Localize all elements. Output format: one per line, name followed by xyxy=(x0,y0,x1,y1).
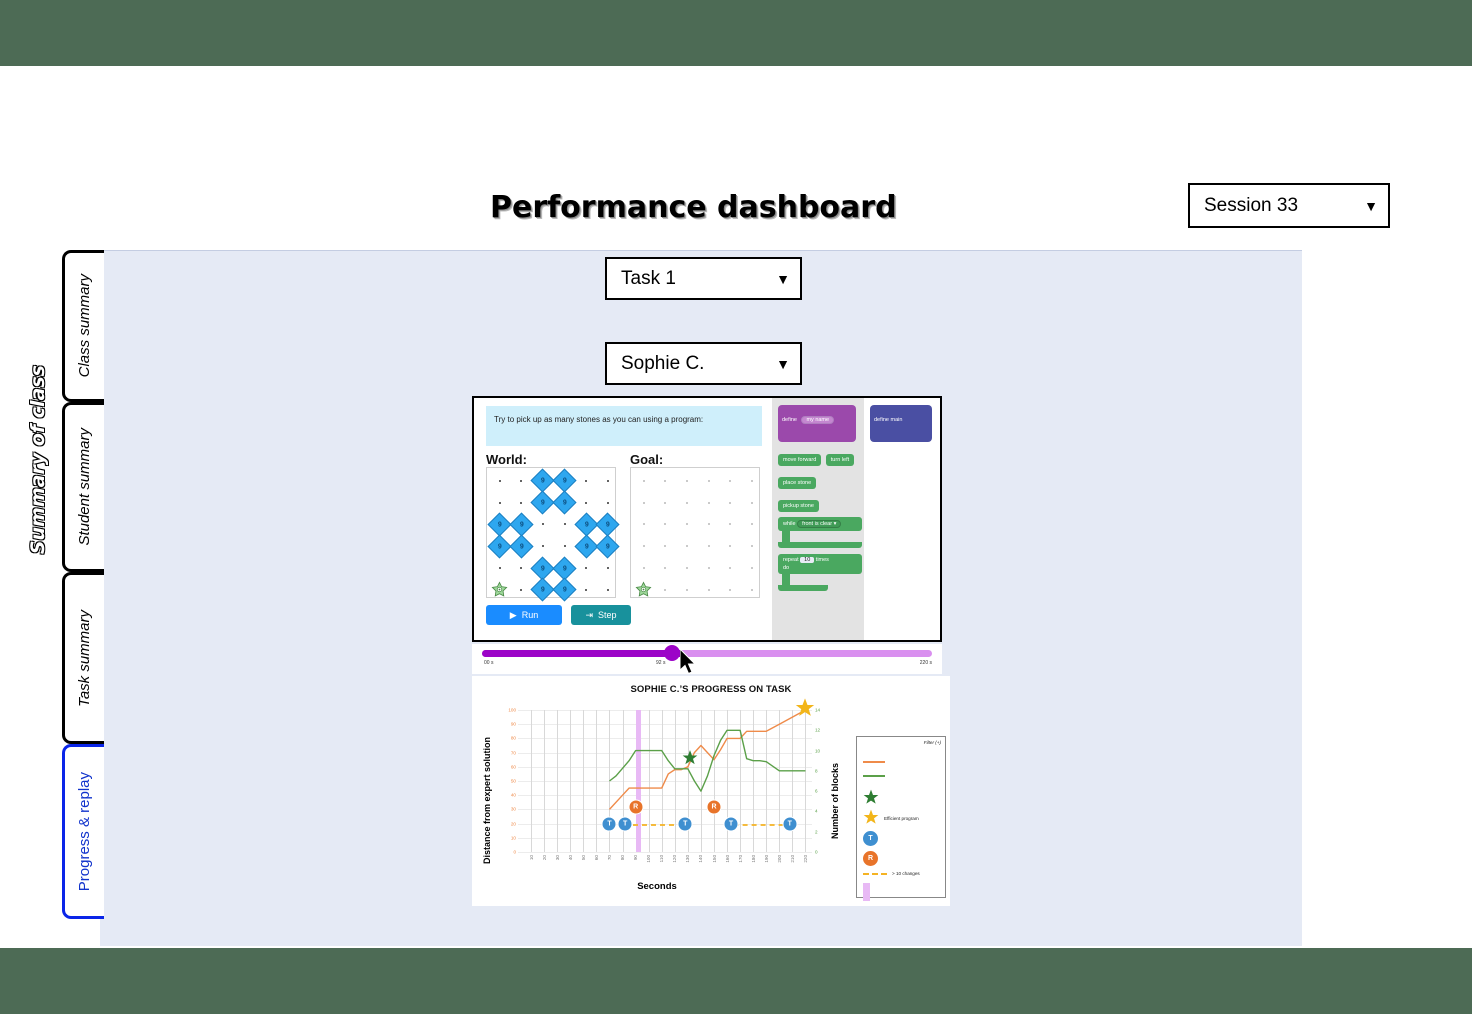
timeline-progress-fill xyxy=(482,650,681,657)
grid-cell: 9 xyxy=(511,535,533,557)
grid-dot xyxy=(708,502,710,504)
grid-cell xyxy=(719,514,741,536)
robot-icon xyxy=(491,581,508,598)
grid-dot xyxy=(520,589,522,591)
marker-run[interactable]: R xyxy=(628,799,643,814)
block-define-my-name[interactable]: define my name xyxy=(778,405,856,442)
sidebar-item-student-summary[interactable]: Student summary xyxy=(62,402,104,572)
timeline-current-label: 92 s xyxy=(656,660,665,666)
sidebar-group-label-text: Summary of class xyxy=(27,365,49,554)
block-label: pickup stone xyxy=(783,503,814,509)
chevron-down-icon: ▼ xyxy=(776,271,790,287)
timeline-track[interactable] xyxy=(482,650,932,657)
sidebar-item-label: Task summary xyxy=(76,610,93,707)
student-dropdown-value: Sophie C. xyxy=(621,353,704,375)
grid-dot xyxy=(686,567,688,569)
grid-dot xyxy=(708,480,710,482)
grid-cell xyxy=(597,579,619,601)
grid-cell xyxy=(633,492,655,514)
grid-cell xyxy=(575,557,597,579)
block-label: move forward xyxy=(783,457,816,463)
step-button[interactable]: ⇥ Step xyxy=(571,605,631,625)
grid-cell xyxy=(719,470,741,492)
stone-icon: 9 xyxy=(553,556,577,580)
grid-cell xyxy=(698,579,720,601)
grid-cell xyxy=(698,557,720,579)
grid-cell xyxy=(676,535,698,557)
grid-dot xyxy=(686,480,688,482)
grid-cell xyxy=(741,535,763,557)
grid-cell xyxy=(511,470,533,492)
grid-cell: 9 xyxy=(575,535,597,557)
circle-t-icon: T xyxy=(863,831,878,846)
block-label: define xyxy=(782,417,797,423)
marker-test-run[interactable]: T xyxy=(602,816,617,831)
block-place-stone[interactable]: place stone xyxy=(778,477,816,489)
block-workspace[interactable]: define main xyxy=(864,398,940,640)
star-gold-icon xyxy=(795,698,815,723)
timeline-start-label: 00 s xyxy=(484,660,493,666)
goal-label: Goal: xyxy=(630,452,760,467)
grid-cell xyxy=(698,470,720,492)
grid-cell xyxy=(633,535,655,557)
line-orange-icon xyxy=(863,761,885,763)
block-label: while xyxy=(783,521,796,527)
timeline-knob[interactable] xyxy=(664,645,680,661)
grid-cell xyxy=(489,557,511,579)
legend-item-star-green[interactable] xyxy=(863,789,884,807)
grid-cell xyxy=(633,470,655,492)
grid-cell xyxy=(741,492,763,514)
chart-x-axis-label: Seconds xyxy=(512,881,802,892)
chart-legend[interactable]: Filter (+) Efficient program T R xyxy=(856,736,946,898)
grid-cell xyxy=(698,535,720,557)
grid-cell xyxy=(676,579,698,601)
grid-dot xyxy=(751,480,753,482)
grid-cell xyxy=(489,579,511,601)
grid-cell xyxy=(655,514,677,536)
grid-cell xyxy=(741,557,763,579)
replay-timeline[interactable]: 00 s 92 s 220 s xyxy=(472,644,942,674)
grid-dot xyxy=(664,502,666,504)
legend-item-star-gold[interactable]: Efficient program xyxy=(863,809,919,827)
grid-cell: 9 xyxy=(511,514,533,536)
grid-cell: 9 xyxy=(532,557,554,579)
grid-dot xyxy=(607,589,609,591)
session-dropdown[interactable]: Session 33 ▼ xyxy=(1188,183,1390,228)
grid-cell: 9 xyxy=(532,470,554,492)
grid-cell xyxy=(676,514,698,536)
grid-dot xyxy=(643,545,645,547)
grid-dot xyxy=(708,523,710,525)
stone-icon: 9 xyxy=(553,491,577,515)
block-move-forward[interactable]: move forward xyxy=(778,454,821,466)
block-label: turn left xyxy=(831,457,849,463)
grid-cell xyxy=(489,492,511,514)
grids-row: World: 9999999999999999 Goal: xyxy=(486,446,762,598)
grid-dot xyxy=(607,480,609,482)
stone-icon: 9 xyxy=(488,512,512,536)
grid-dot xyxy=(499,480,501,482)
grid-cell xyxy=(511,557,533,579)
grid-dot xyxy=(664,480,666,482)
block-field-name[interactable]: my name xyxy=(801,416,834,424)
block-palette[interactable]: define my name move forward turn left pl… xyxy=(772,398,864,640)
grid-cell: 9 xyxy=(532,579,554,601)
grid-cell xyxy=(511,579,533,601)
legend-item-circle-r[interactable]: R xyxy=(863,851,883,866)
stone-icon: 9 xyxy=(488,534,512,558)
chart-plot-area: 0102030405060708090100024681012141020304… xyxy=(496,706,826,876)
grid-cell: 9 xyxy=(554,470,576,492)
marker-test-run[interactable]: T xyxy=(782,816,797,831)
play-icon: ▶ xyxy=(510,610,517,621)
dashed-yellow-icon xyxy=(863,873,887,875)
chart-series-line-0 xyxy=(609,710,805,809)
legend-item-dashed[interactable]: > 10 changes xyxy=(863,871,920,876)
grid-cell: 9 xyxy=(532,492,554,514)
marker-test-run[interactable]: T xyxy=(618,816,633,831)
block-field-count[interactable]: 10 xyxy=(800,557,814,563)
grid-dot xyxy=(729,589,731,591)
grid-cell xyxy=(633,579,655,601)
chart-y-axis-label-right: Number of blocks xyxy=(828,731,842,871)
grid-dot xyxy=(643,523,645,525)
grid-cell: 9 xyxy=(554,557,576,579)
grid-cell: 9 xyxy=(575,514,597,536)
grid-cell xyxy=(676,470,698,492)
grid-cell xyxy=(554,514,576,536)
grid-dot xyxy=(520,480,522,482)
grid-dot xyxy=(751,589,753,591)
page-title: Performance dashboard xyxy=(490,190,897,225)
grid-cell xyxy=(511,492,533,514)
block-define-main[interactable]: define main xyxy=(870,405,932,442)
grid-dot xyxy=(643,480,645,482)
block-pickup-stone[interactable]: pickup stone xyxy=(778,500,819,512)
sidebar-group-label: Summary of class xyxy=(18,250,58,670)
grid-cell xyxy=(676,492,698,514)
grid-dot xyxy=(564,523,566,525)
chevron-down-icon: ▼ xyxy=(1364,198,1378,214)
grid-cell xyxy=(698,492,720,514)
grid-dot xyxy=(520,502,522,504)
timeline-end-label: 220 s xyxy=(920,660,932,666)
grid-dot xyxy=(751,567,753,569)
stone-icon: 9 xyxy=(553,469,577,493)
sidebar-item-class-summary[interactable]: Class summary xyxy=(62,250,104,402)
grid-dot xyxy=(585,567,587,569)
robot-icon xyxy=(635,581,652,598)
grid-cell: 9 xyxy=(597,514,619,536)
stone-icon: 9 xyxy=(596,534,620,558)
grid-cell xyxy=(575,579,597,601)
star-gold-icon xyxy=(863,809,879,827)
grid-cell xyxy=(719,492,741,514)
sidebar-item-task-summary[interactable]: Task summary xyxy=(62,572,104,744)
block-label-do: do xyxy=(783,565,789,571)
grid-cell xyxy=(655,557,677,579)
grid-dot xyxy=(664,545,666,547)
grid-dot xyxy=(585,589,587,591)
grid-dot xyxy=(708,545,710,547)
grid-dot xyxy=(564,545,566,547)
session-dropdown-value: Session 33 xyxy=(1204,195,1298,217)
world-grid[interactable]: 9999999999999999 xyxy=(486,467,616,598)
grid-cell xyxy=(719,579,741,601)
sidebar-item-progress-replay[interactable]: Progress & replay xyxy=(62,744,104,919)
run-button[interactable]: ▶ Run xyxy=(486,605,562,625)
grid-cell: 9 xyxy=(554,492,576,514)
chart-title: SOPHIE C.’S PROGRESS ON TASK xyxy=(472,684,950,695)
legend-item-blocks[interactable] xyxy=(863,775,890,777)
chart-series-line-1 xyxy=(609,730,805,791)
student-dropdown[interactable]: Sophie C. ▼ xyxy=(605,342,802,385)
grid-cell xyxy=(741,514,763,536)
block-label: repeat xyxy=(783,557,799,563)
world-section: World: 9999999999999999 xyxy=(486,446,616,598)
grid-dot xyxy=(499,502,501,504)
legend-item-label: > 10 changes xyxy=(892,871,920,876)
grid-cell xyxy=(597,470,619,492)
block-while-front-is-clear[interactable]: while front is clear ▾ xyxy=(778,517,858,548)
circle-r-icon: R xyxy=(863,851,878,866)
grid-dot xyxy=(729,523,731,525)
grid-cell xyxy=(633,557,655,579)
sidebar-item-label: Class summary xyxy=(76,274,93,377)
world-label: World: xyxy=(486,452,616,467)
grid-cell xyxy=(575,470,597,492)
grid-cell xyxy=(655,470,677,492)
grid-dot xyxy=(686,545,688,547)
grid-dot xyxy=(607,567,609,569)
grid-cell xyxy=(655,535,677,557)
grid-cell xyxy=(655,492,677,514)
block-label: place stone xyxy=(783,480,811,486)
marker-test-run[interactable]: T xyxy=(678,816,693,831)
block-field-condition[interactable]: front is clear ▾ xyxy=(797,520,841,528)
grid-dot xyxy=(664,589,666,591)
grid-dot xyxy=(729,545,731,547)
grid-cell: 9 xyxy=(554,579,576,601)
grid-dot xyxy=(686,523,688,525)
simulation-buttons: ▶ Run ⇥ Step xyxy=(486,605,762,625)
band-violet-icon xyxy=(863,883,870,901)
grid-cell: 9 xyxy=(597,535,619,557)
grid-cell xyxy=(532,514,554,536)
grid-cell xyxy=(554,535,576,557)
legend-item-distance[interactable] xyxy=(863,761,890,763)
grid-dot xyxy=(542,523,544,525)
block-repeat-times[interactable]: repeat 10 times do xyxy=(778,554,858,591)
grid-dot xyxy=(751,545,753,547)
grid-cell xyxy=(575,492,597,514)
stone-icon: 9 xyxy=(509,534,533,558)
blockly-area: define my name move forward turn left pl… xyxy=(772,398,940,640)
grid-dot xyxy=(729,567,731,569)
grid-dot xyxy=(729,480,731,482)
stone-icon: 9 xyxy=(509,512,533,536)
grid-dot xyxy=(585,480,587,482)
grid-dot xyxy=(542,545,544,547)
grid-cell xyxy=(719,535,741,557)
grid-cell xyxy=(698,514,720,536)
grid-dot xyxy=(643,502,645,504)
grid-dot xyxy=(520,567,522,569)
block-label: define main xyxy=(874,417,902,423)
grid-dot xyxy=(686,589,688,591)
progress-chart-card: SOPHIE C.’S PROGRESS ON TASK Distance fr… xyxy=(472,676,950,906)
grid-dot xyxy=(643,567,645,569)
grid-dot xyxy=(607,502,609,504)
stone-icon: 9 xyxy=(531,469,555,493)
grid-dot xyxy=(686,502,688,504)
grid-dot xyxy=(585,502,587,504)
step-button-label: Step xyxy=(598,610,617,620)
legend-item-circle-t[interactable]: T xyxy=(863,831,883,846)
block-turn-left[interactable]: turn left xyxy=(826,454,854,466)
grid-cell xyxy=(597,557,619,579)
marker-test-run[interactable]: T xyxy=(723,816,738,831)
grid-cell xyxy=(489,470,511,492)
simulation-left-pane: Try to pick up as many stones as you can… xyxy=(474,398,772,640)
chevron-down-icon: ▼ xyxy=(776,356,790,372)
grid-cell: 9 xyxy=(489,514,511,536)
chart-y-axis-label-left: Distance from expert solution xyxy=(480,726,494,876)
line-green-icon xyxy=(863,775,885,777)
step-icon: ⇥ xyxy=(585,610,593,621)
stone-icon: 9 xyxy=(531,578,555,602)
grid-dot xyxy=(751,523,753,525)
stone-icon: 9 xyxy=(531,491,555,515)
grid-cell xyxy=(532,535,554,557)
grid-dot xyxy=(708,589,710,591)
simulation-panel: Try to pick up as many stones as you can… xyxy=(472,396,942,642)
grid-dot xyxy=(664,567,666,569)
legend-item-band[interactable] xyxy=(863,883,875,901)
sidebar-item-label: Progress & replay xyxy=(76,772,93,891)
grid-dot xyxy=(729,502,731,504)
task-dropdown[interactable]: Task 1 ▼ xyxy=(605,257,802,300)
goal-grid xyxy=(630,467,760,598)
grid-cell xyxy=(741,579,763,601)
star-green-icon xyxy=(682,749,698,770)
grid-cell xyxy=(719,557,741,579)
grid-cell xyxy=(597,492,619,514)
marker-run[interactable]: R xyxy=(707,799,722,814)
stone-icon: 9 xyxy=(553,578,577,602)
grid-cell xyxy=(741,470,763,492)
grid-dot xyxy=(664,523,666,525)
grid-cell: 9 xyxy=(489,535,511,557)
block-label-suffix: times xyxy=(816,557,829,563)
task-instruction: Try to pick up as many stones as you can… xyxy=(486,406,762,446)
grid-cell xyxy=(655,579,677,601)
grid-dot xyxy=(751,502,753,504)
grid-dot xyxy=(499,567,501,569)
run-button-label: Run xyxy=(522,610,539,620)
grid-cell xyxy=(676,557,698,579)
goal-section: Goal: xyxy=(630,446,760,598)
sidebar-item-label: Student summary xyxy=(76,428,93,546)
task-dropdown-value: Task 1 xyxy=(621,268,676,290)
grid-cell xyxy=(633,514,655,536)
legend-filter-label[interactable]: Filter (+) xyxy=(924,740,941,745)
star-green-icon xyxy=(863,789,879,807)
grid-dot xyxy=(708,567,710,569)
chart-series-svg xyxy=(496,706,826,876)
legend-item-label: Efficient program xyxy=(884,816,919,821)
stone-icon: 9 xyxy=(596,512,620,536)
